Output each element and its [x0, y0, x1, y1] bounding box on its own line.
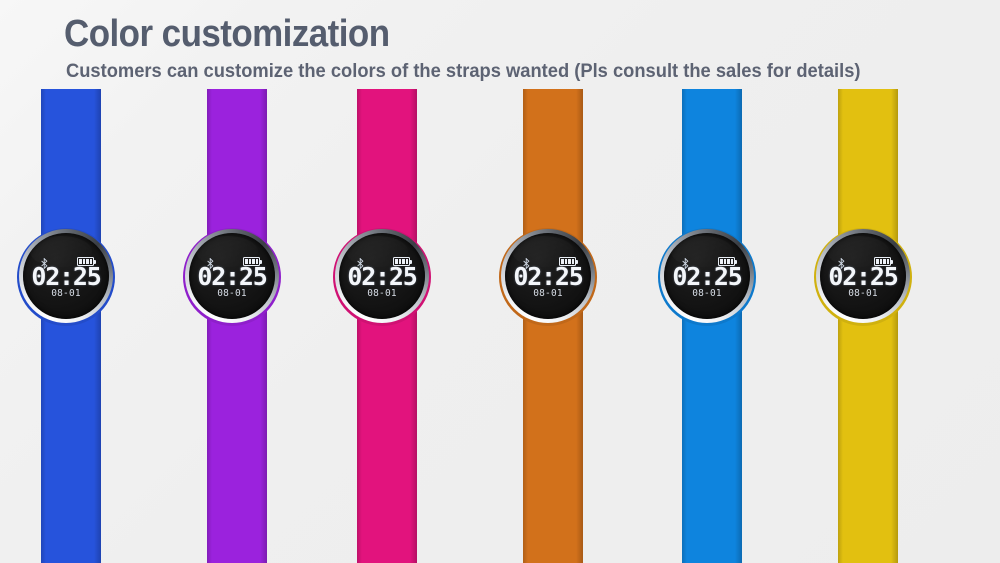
watch-screen: 02:2508-01 — [189, 233, 275, 319]
watch-time: 02:25 — [505, 264, 591, 289]
strap-yellow[interactable] — [838, 89, 898, 563]
strap-left-shading-top — [357, 89, 362, 251]
watch-time: 02:25 — [664, 264, 750, 289]
watch-screen: 02:2508-01 — [505, 233, 591, 319]
watch-time: 02:25 — [339, 264, 425, 289]
watch-screen: 02:2508-01 — [23, 233, 109, 319]
watch-time: 02:25 — [820, 264, 906, 289]
watch-face[interactable]: 02:2508-01 — [23, 233, 109, 319]
watch-body-purple[interactable]: 02:2508-01 — [177, 228, 297, 326]
watch-screen: 02:2508-01 — [820, 233, 906, 319]
watch-screen: 02:2508-01 — [339, 233, 425, 319]
watch-face[interactable]: 02:2508-01 — [189, 233, 275, 319]
strap-upper-section — [357, 89, 417, 251]
strap-magenta[interactable] — [357, 89, 417, 563]
strap-purple[interactable] — [207, 89, 267, 563]
watch-date: 08-01 — [664, 289, 750, 299]
watch-body-orange[interactable]: 02:2508-01 — [493, 228, 613, 326]
strap-upper-section — [682, 89, 742, 251]
strap-right-shading-top — [891, 89, 898, 251]
strap-orange[interactable] — [523, 89, 583, 563]
watch-body-blue[interactable]: 02:2508-01 — [11, 228, 131, 326]
strap-upper-section — [207, 89, 267, 251]
watch-magenta[interactable]: 02:2508-01 — [327, 0, 447, 563]
strap-right-shading-top — [735, 89, 742, 251]
watch-body-magenta[interactable]: 02:2508-01 — [327, 228, 447, 326]
watch-face[interactable]: 02:2508-01 — [505, 233, 591, 319]
strap-left-shading-top — [838, 89, 843, 251]
strap-right-shading-top — [576, 89, 583, 251]
watch-purple[interactable]: 02:2508-01 — [177, 0, 297, 563]
strap-cyan[interactable] — [682, 89, 742, 563]
strap-left-shading-top — [207, 89, 212, 251]
watch-body-yellow[interactable]: 02:2508-01 — [808, 228, 928, 326]
watch-cyan[interactable]: 02:2508-01 — [652, 0, 772, 563]
watch-date: 08-01 — [339, 289, 425, 299]
strap-upper-section — [838, 89, 898, 251]
strap-right-shading-top — [410, 89, 417, 251]
watch-yellow[interactable]: 02:2508-01 — [808, 0, 928, 563]
watch-date: 08-01 — [820, 289, 906, 299]
watch-body-cyan[interactable]: 02:2508-01 — [652, 228, 772, 326]
watch-date: 08-01 — [189, 289, 275, 299]
strap-upper-section — [41, 89, 101, 251]
watch-face[interactable]: 02:2508-01 — [664, 233, 750, 319]
watch-date: 08-01 — [505, 289, 591, 299]
strap-blue[interactable] — [41, 89, 101, 563]
watch-orange[interactable]: 02:2508-01 — [493, 0, 613, 563]
watch-time: 02:25 — [23, 264, 109, 289]
watch-screen: 02:2508-01 — [664, 233, 750, 319]
strap-left-shading-top — [523, 89, 528, 251]
watch-face[interactable]: 02:2508-01 — [820, 233, 906, 319]
strap-right-shading-top — [94, 89, 101, 251]
strap-right-shading-top — [260, 89, 267, 251]
watch-blue[interactable]: 02:2508-01 — [11, 0, 131, 563]
strap-left-shading-top — [682, 89, 687, 251]
color-customization-slide: Color customization Customers can custom… — [0, 0, 1000, 563]
watch-face[interactable]: 02:2508-01 — [339, 233, 425, 319]
strap-upper-section — [523, 89, 583, 251]
strap-left-shading-top — [41, 89, 46, 251]
watch-time: 02:25 — [189, 264, 275, 289]
watch-date: 08-01 — [23, 289, 109, 299]
